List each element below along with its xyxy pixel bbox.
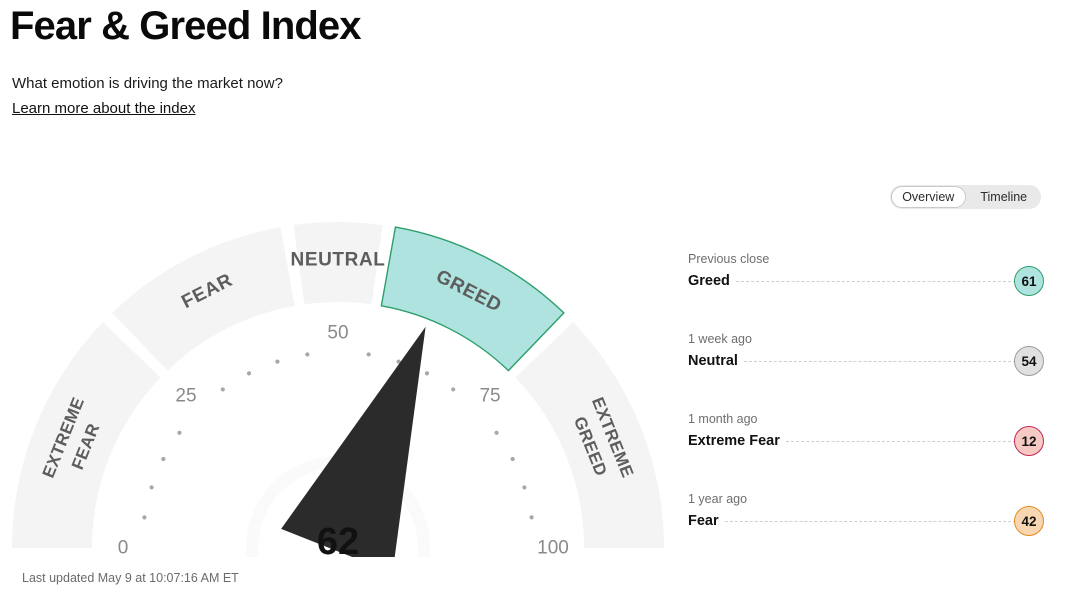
history-score-badge: 54 (1014, 346, 1044, 376)
history-score-badge: 12 (1014, 426, 1044, 456)
gauge-tick (511, 457, 515, 461)
gauge-tick (142, 515, 146, 519)
history-score-badge: 42 (1014, 506, 1044, 536)
history-row-value: Greed (688, 273, 736, 289)
gauge-tick (494, 431, 498, 435)
gauge-svg: EXTREMEFEARFEARNEUTRALGREEDEXTREMEGREED0… (0, 212, 680, 557)
gauge-segment-label: NEUTRAL (291, 250, 386, 271)
history-score-badge: 61 (1014, 266, 1044, 296)
gauge-value: 62 (317, 521, 359, 557)
gauge-tick (425, 371, 429, 375)
history-row-label: Previous close (688, 252, 1044, 266)
history-row-value: Extreme Fear (688, 433, 786, 449)
history-row-label: 1 year ago (688, 492, 1044, 506)
gauge-tick (529, 515, 533, 519)
gauge-tick (221, 387, 225, 391)
gauge-tick (305, 352, 309, 356)
gauge-tick (275, 359, 279, 363)
last-updated-text: Last updated May 9 at 10:07:16 AM ET (22, 571, 239, 585)
leader-line (736, 281, 1016, 283)
leader-line (744, 361, 1016, 363)
gauge-tick (367, 352, 371, 356)
leader-line (786, 441, 1016, 443)
history-row-value: Neutral (688, 353, 744, 369)
history-row: 1 week agoNeutral54 (688, 332, 1044, 412)
gauge-tick (149, 485, 153, 489)
view-toggle[interactable]: Overview Timeline (890, 185, 1041, 209)
history-row-label: 1 month ago (688, 412, 1044, 426)
history-row-value: Fear (688, 513, 725, 529)
gauge-scale-label: 25 (175, 385, 196, 406)
history-row: 1 month agoExtreme Fear12 (688, 412, 1044, 492)
gauge-scale-label: 0 (118, 538, 129, 558)
page-subtitle: What emotion is driving the market now? (12, 75, 283, 92)
history-list: Previous closeGreed611 week agoNeutral54… (688, 252, 1044, 572)
gauge-scale-label: 100 (537, 538, 569, 558)
gauge-tick (247, 371, 251, 375)
learn-more-link[interactable]: Learn more about the index (12, 100, 195, 117)
fear-greed-gauge: EXTREMEFEARFEARNEUTRALGREEDEXTREMEGREED0… (0, 212, 680, 557)
history-row: Previous closeGreed61 (688, 252, 1044, 332)
page-title: Fear & Greed Index (10, 2, 361, 50)
gauge-scale-label: 50 (327, 323, 348, 344)
leader-line (725, 521, 1016, 523)
tab-overview[interactable]: Overview (891, 186, 966, 208)
history-row-label: 1 week ago (688, 332, 1044, 346)
gauge-tick (161, 457, 165, 461)
gauge-tick (177, 431, 181, 435)
gauge-tick (451, 387, 455, 391)
gauge-scale-label: 75 (479, 385, 500, 406)
tab-timeline[interactable]: Timeline (968, 186, 1041, 208)
gauge-tick (522, 485, 526, 489)
history-row: 1 year agoFear42 (688, 492, 1044, 572)
